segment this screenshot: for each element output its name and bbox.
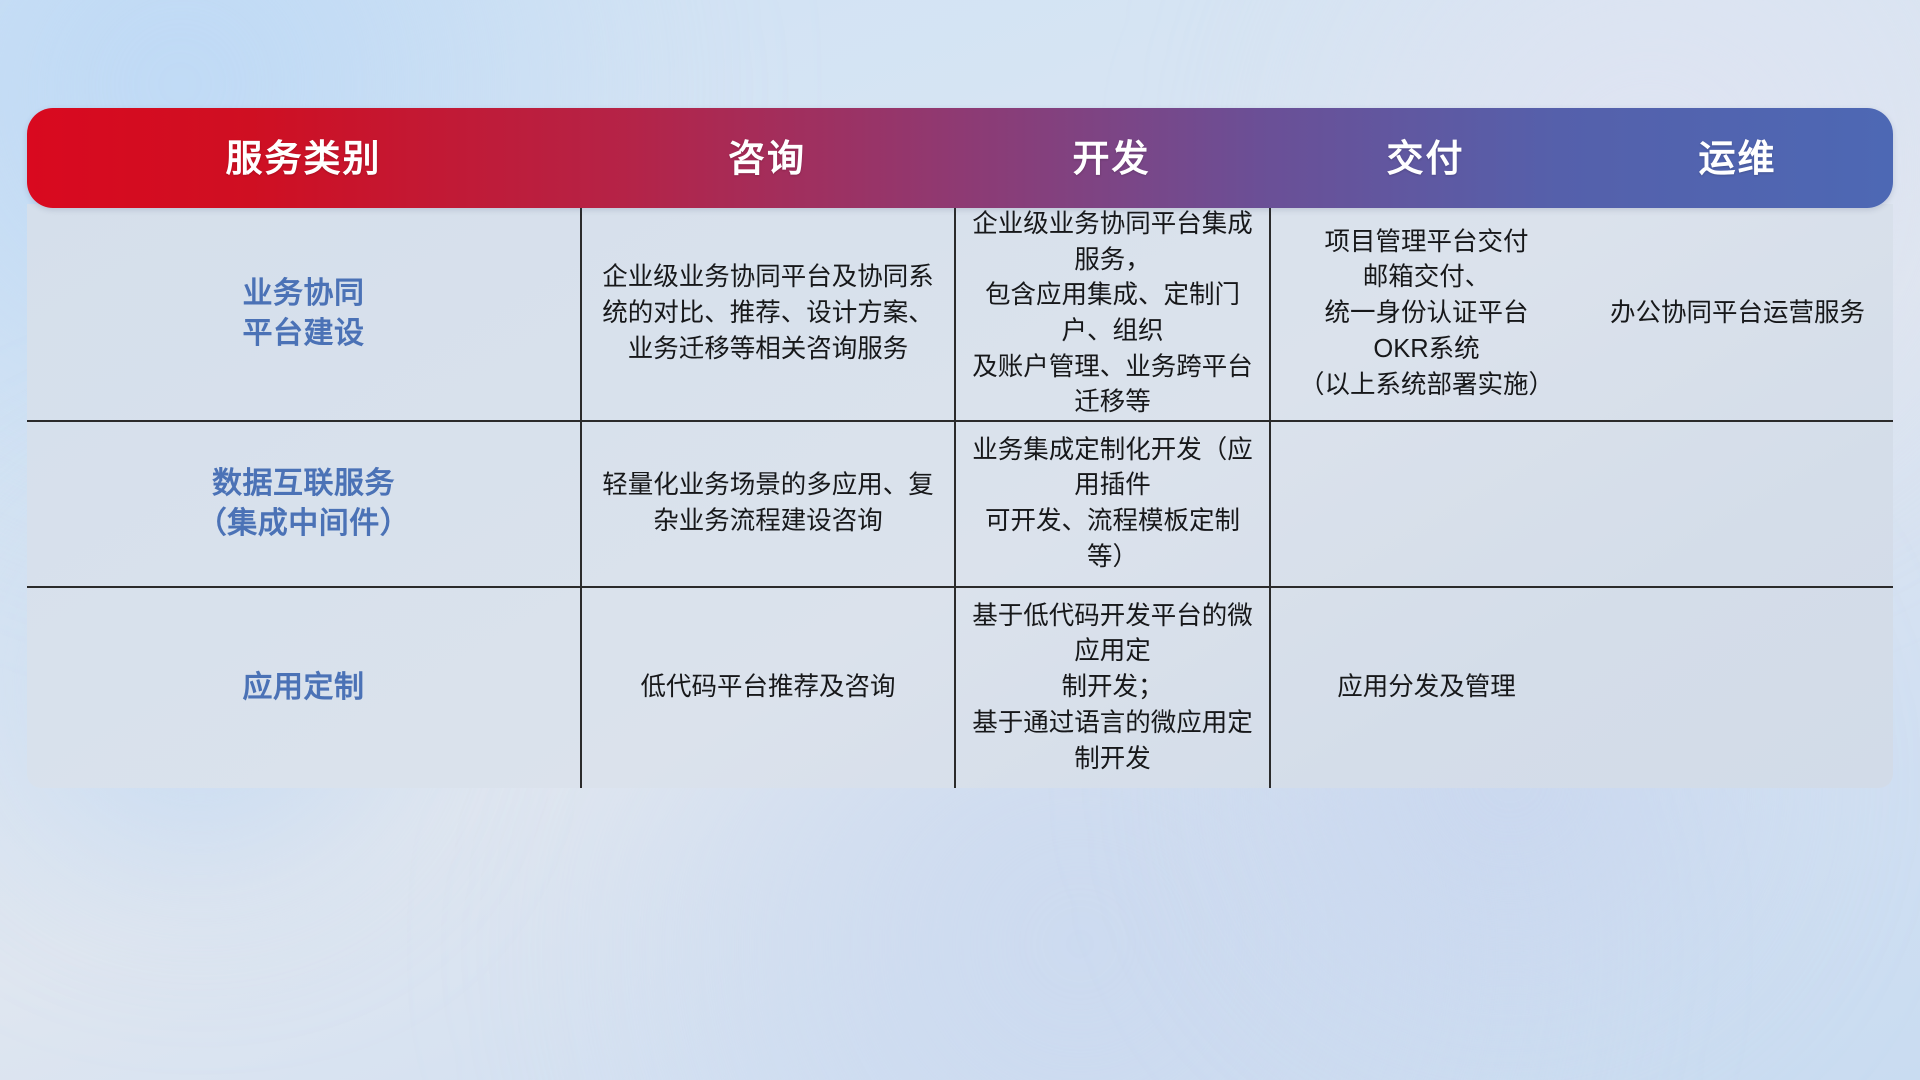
cell-development-row-3: 基于低代码开发平台的微应用定 制开发； 基于通过语言的微应用定制开发 — [954, 588, 1269, 788]
cell-delivery-row-3: 应用分发及管理 — [1269, 588, 1582, 788]
column-header-consulting: 咨询 — [580, 140, 954, 177]
cell-consulting-row-3: 低代码平台推荐及咨询 — [580, 588, 954, 788]
table-row: 应用定制 低代码平台推荐及咨询 基于低代码开发平台的微应用定 制开发； 基于通过… — [27, 586, 1893, 788]
row-label-application-custom: 应用定制 — [27, 588, 580, 788]
cell-operations-row-2 — [1582, 422, 1893, 586]
table-body: 业务协同 平台建设 企业级业务协同平台及协同系 统的对比、推荐、设计方案、 业务… — [27, 204, 1893, 788]
column-header-development: 开发 — [954, 140, 1269, 177]
cell-consulting-row-2: 轻量化业务场景的多应用、复 杂业务流程建设咨询 — [580, 422, 954, 586]
cell-consulting-row-1: 企业级业务协同平台及协同系 统的对比、推荐、设计方案、 业务迁移等相关咨询服务 — [580, 208, 954, 420]
cell-delivery-row-2 — [1269, 422, 1582, 586]
service-matrix-table: 服务类别 咨询 开发 交付 运维 业务协同 平台建设 企业级业务协同平台及协同系… — [27, 108, 1893, 788]
table-row: 业务协同 平台建设 企业级业务协同平台及协同系 统的对比、推荐、设计方案、 业务… — [27, 208, 1893, 420]
row-label-business-collaboration: 业务协同 平台建设 — [27, 208, 580, 420]
cell-operations-row-1: 办公协同平台运营服务 — [1582, 208, 1893, 420]
column-header-delivery: 交付 — [1269, 140, 1582, 177]
cell-development-row-2: 业务集成定制化开发（应用插件 可开发、流程模板定制等） — [954, 422, 1269, 586]
table-header-row: 服务类别 咨询 开发 交付 运维 — [27, 108, 1893, 208]
column-header-category: 服务类别 — [27, 140, 580, 177]
table-row: 数据互联服务 （集成中间件） 轻量化业务场景的多应用、复 杂业务流程建设咨询 业… — [27, 420, 1893, 586]
cell-delivery-row-1: 项目管理平台交付 邮箱交付、 统一身份认证平台 OKR系统 （以上系统部署实施） — [1269, 208, 1582, 420]
row-label-data-interconnect: 数据互联服务 （集成中间件） — [27, 422, 580, 586]
cell-development-row-1: 企业级业务协同平台集成服务， 包含应用集成、定制门户、组织 及账户管理、业务跨平… — [954, 208, 1269, 420]
column-header-operations: 运维 — [1582, 140, 1893, 177]
cell-operations-row-3 — [1582, 588, 1893, 788]
